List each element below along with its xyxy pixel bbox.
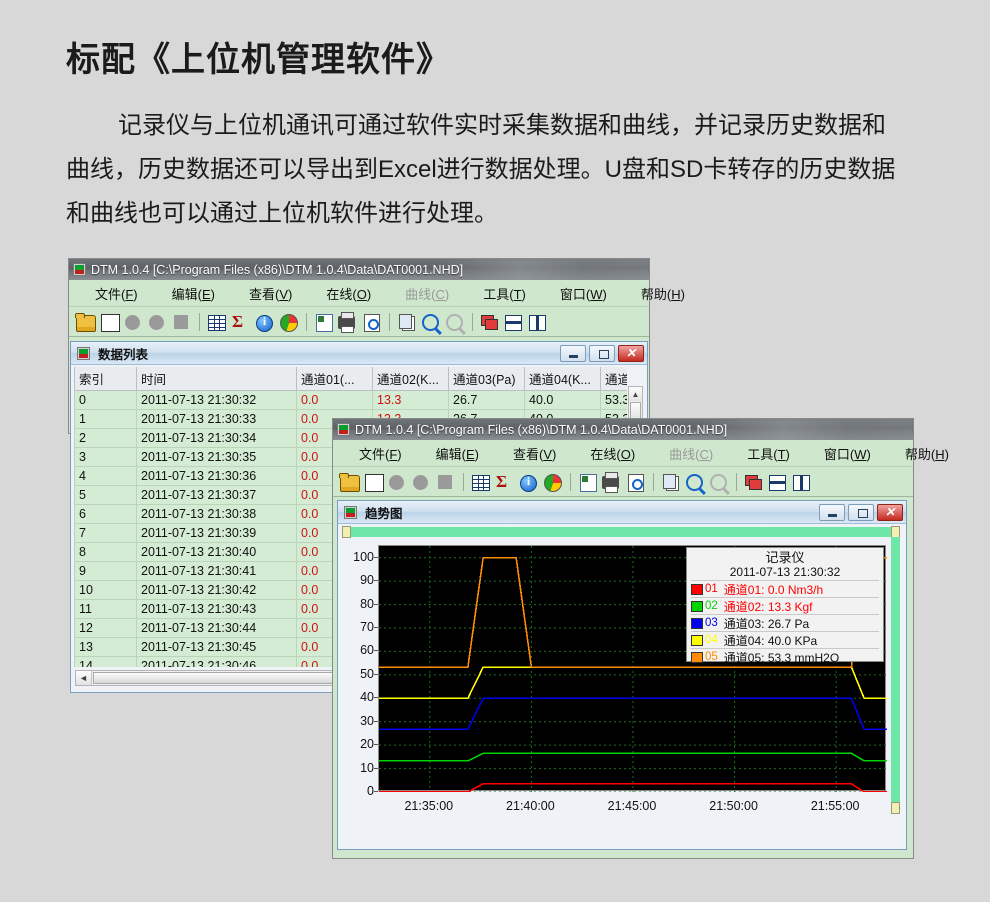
zoom-out-icon-glyph bbox=[446, 314, 463, 331]
chart-legend: 记录仪 2011-07-13 21:30:32 01通道01: 0.0 Nm3/… bbox=[686, 547, 884, 662]
export-excel-icon-glyph bbox=[580, 474, 597, 492]
y-tick-label: 100 bbox=[353, 550, 374, 564]
column-header-4[interactable]: 通道03(Pa) bbox=[449, 367, 525, 391]
column-header-6[interactable]: 通道05(... bbox=[601, 367, 628, 391]
record-start-icon[interactable] bbox=[122, 311, 144, 333]
legend-channel-number: 02 bbox=[705, 600, 718, 612]
record-pause-icon-glyph bbox=[149, 315, 164, 330]
y-tick-label: 90 bbox=[360, 573, 374, 587]
print-preview-icon-glyph bbox=[364, 314, 380, 332]
table-cell[interactable]: 1 bbox=[75, 410, 137, 429]
menu-item-3[interactable]: 在线(O) bbox=[586, 444, 639, 463]
cascade-windows-icon-glyph bbox=[745, 475, 760, 489]
data-table-icon-glyph bbox=[472, 475, 490, 491]
data-list-window-buttons[interactable]: ✕ bbox=[557, 345, 647, 362]
y-tick-label: 60 bbox=[360, 643, 374, 657]
y-tick-mark bbox=[374, 791, 378, 792]
menu-item-2[interactable]: 查看(V) bbox=[509, 444, 560, 463]
info-icon-glyph bbox=[256, 315, 273, 332]
toolbar-back[interactable]: Σ bbox=[69, 307, 649, 337]
zoom-in-icon-glyph bbox=[422, 314, 439, 331]
table-cell[interactable]: 2011-07-13 21:30:32 bbox=[137, 391, 297, 410]
legend-item: 01通道01: 0.0 Nm3/h bbox=[691, 580, 879, 597]
table-cell[interactable]: 26.7 bbox=[449, 391, 525, 410]
app-icon bbox=[337, 423, 350, 436]
print-preview-icon[interactable] bbox=[624, 471, 646, 493]
y-tick-label: 0 bbox=[367, 784, 374, 798]
open-file-icon[interactable] bbox=[74, 311, 96, 333]
menu-item-7[interactable]: 帮助(H) bbox=[901, 444, 953, 463]
record-stop-icon[interactable] bbox=[170, 311, 192, 333]
toolbar-separator bbox=[463, 473, 464, 491]
window-title-front: DTM 1.0.4 [C:\Program Files (x86)\DTM 1.… bbox=[355, 423, 727, 437]
x-tick-label: 21:45:00 bbox=[608, 799, 657, 813]
menubar-front[interactable]: 文件(F)编辑(E)查看(V)在线(O)曲线(C)工具(T)窗口(W)帮助(H) bbox=[333, 440, 913, 467]
statistics-sigma-icon-glyph: Σ bbox=[496, 472, 507, 492]
y-tick-mark bbox=[374, 744, 378, 745]
column-header-0[interactable]: 索引 bbox=[75, 367, 137, 391]
y-tick-mark bbox=[374, 557, 378, 558]
print-icon-glyph bbox=[338, 316, 355, 329]
legend-channel-value: 通道04: 40.0 KPa bbox=[724, 632, 817, 649]
export-excel-icon[interactable] bbox=[576, 471, 598, 493]
y-tick-label: 40 bbox=[360, 690, 374, 704]
scroll-left-icon[interactable]: ◄ bbox=[76, 671, 92, 685]
open-file-icon-glyph bbox=[76, 315, 96, 332]
y-tick-mark bbox=[374, 674, 378, 675]
table-cell[interactable]: 2011-07-13 21:30:42 bbox=[137, 581, 297, 600]
titlebar-blur-overlay bbox=[434, 259, 649, 280]
menu-item-1[interactable]: 编辑(E) bbox=[432, 444, 483, 463]
data-table-icon-glyph bbox=[208, 315, 226, 331]
x-tick-label: 21:35:00 bbox=[404, 799, 453, 813]
data-table-icon[interactable] bbox=[469, 471, 491, 493]
toolbar-separator bbox=[736, 473, 737, 491]
x-tick-label: 21:50:00 bbox=[709, 799, 758, 813]
cascade-windows-icon[interactable] bbox=[478, 311, 500, 333]
table-cell[interactable]: 13.3 bbox=[373, 391, 449, 410]
curve-chart-icon-glyph bbox=[101, 314, 120, 332]
table-cell[interactable]: 40.0 bbox=[525, 391, 601, 410]
print-icon[interactable] bbox=[336, 311, 358, 333]
menu-item-6[interactable]: 窗口(W) bbox=[820, 444, 875, 463]
tile-horizontal-icon[interactable] bbox=[766, 471, 788, 493]
record-pause-icon[interactable] bbox=[410, 471, 432, 493]
info-icon[interactable] bbox=[517, 471, 539, 493]
table-cell[interactable]: 0.0 bbox=[297, 391, 373, 410]
menu-item-4: 曲线(C) bbox=[665, 444, 717, 463]
statistics-sigma-icon[interactable]: Σ bbox=[229, 311, 251, 333]
legend-color-swatch bbox=[691, 601, 703, 612]
statistics-sigma-icon[interactable]: Σ bbox=[493, 471, 515, 493]
chart-right-marker-bottom bbox=[891, 802, 900, 814]
table-cell[interactable]: 2011-07-13 21:30:43 bbox=[137, 600, 297, 619]
titlebar-blur-overlay bbox=[698, 419, 913, 440]
y-tick-label: 70 bbox=[360, 620, 374, 634]
toolbar-separator bbox=[199, 313, 200, 331]
y-tick-label: 50 bbox=[360, 667, 374, 681]
pie-chart-icon[interactable] bbox=[541, 471, 563, 493]
trend-icon bbox=[344, 506, 357, 519]
legend-channel-number: 01 bbox=[705, 583, 718, 595]
table-cell[interactable]: 2011-07-13 21:30:44 bbox=[137, 619, 297, 638]
data-list-title: 数据列表 bbox=[98, 344, 148, 363]
tile-vertical-icon[interactable] bbox=[790, 471, 812, 493]
trend-window-buttons[interactable]: ✕ bbox=[816, 504, 906, 521]
trend-chart-window[interactable]: 趋势图 ✕ 0102030405060708090100 21:35:0021:… bbox=[337, 500, 907, 850]
chart-y-axis: 0102030405060708090100 bbox=[338, 545, 374, 791]
export-excel-icon-glyph bbox=[316, 314, 333, 332]
chart-x-axis: 21:35:0021:40:0021:45:0021:50:0021:55:00 bbox=[378, 795, 886, 813]
table-cell[interactable]: 2011-07-13 21:30:41 bbox=[137, 562, 297, 581]
menu-item-5[interactable]: 工具(T) bbox=[479, 284, 530, 303]
record-start-icon-glyph bbox=[389, 475, 404, 490]
scroll-up-icon[interactable]: ▲ bbox=[629, 387, 642, 401]
titlebar-back[interactable]: DTM 1.0.4 [C:\Program Files (x86)\DTM 1.… bbox=[69, 259, 649, 280]
y-tick-label: 80 bbox=[360, 597, 374, 611]
column-header-1[interactable]: 时间 bbox=[137, 367, 297, 391]
table-cell[interactable]: 2011-07-13 21:30:35 bbox=[137, 448, 297, 467]
chart-top-bar bbox=[351, 527, 891, 537]
y-tick-mark bbox=[374, 721, 378, 722]
y-tick-mark bbox=[374, 627, 378, 628]
table-cell[interactable]: 3 bbox=[75, 448, 137, 467]
table-cell[interactable]: 14 bbox=[75, 657, 137, 668]
page-title: 标配《上位机管理软件》 bbox=[66, 32, 451, 81]
legend-timestamp: 2011-07-13 21:30:32 bbox=[691, 565, 879, 580]
y-tick-label: 30 bbox=[360, 714, 374, 728]
promo-paragraph: 记录仪与上位机通讯可通过软件实时采集数据和曲线，并记录历史数据和曲线，历史数据还… bbox=[66, 104, 896, 236]
table-row[interactable]: 02011-07-13 21:30:320.013.326.740.053.3 bbox=[75, 391, 628, 410]
trend-titlebar[interactable]: 趋势图 ✕ bbox=[338, 501, 906, 524]
legend-rows: 01通道01: 0.0 Nm3/h02通道02: 13.3 Kgf03通道03:… bbox=[691, 580, 879, 665]
table-cell[interactable]: 9 bbox=[75, 562, 137, 581]
legend-color-swatch bbox=[691, 635, 703, 646]
zoom-in-icon[interactable] bbox=[419, 311, 441, 333]
cascade-windows-icon-glyph bbox=[481, 315, 496, 329]
record-stop-icon-glyph bbox=[438, 475, 452, 489]
minimize-button[interactable] bbox=[819, 504, 845, 521]
toolbar-separator bbox=[472, 313, 473, 331]
dtm-window-front[interactable]: DTM 1.0.4 [C:\Program Files (x86)\DTM 1.… bbox=[332, 418, 914, 859]
table-cell[interactable]: 2011-07-13 21:30:40 bbox=[137, 543, 297, 562]
info-icon[interactable] bbox=[253, 311, 275, 333]
record-stop-icon[interactable] bbox=[434, 471, 456, 493]
legend-color-swatch bbox=[691, 584, 703, 595]
table-cell[interactable]: 8 bbox=[75, 543, 137, 562]
table-cell[interactable]: 2011-07-13 21:30:39 bbox=[137, 524, 297, 543]
menu-item-0[interactable]: 文件(F) bbox=[355, 444, 406, 463]
legend-title: 记录仪 bbox=[691, 550, 879, 565]
titlebar-front[interactable]: DTM 1.0.4 [C:\Program Files (x86)\DTM 1.… bbox=[333, 419, 913, 440]
record-stop-icon-glyph bbox=[174, 315, 188, 329]
table-cell[interactable]: 53.3 bbox=[601, 391, 628, 410]
table-cell[interactable]: 2011-07-13 21:30:36 bbox=[137, 467, 297, 486]
export-excel-icon[interactable] bbox=[312, 311, 334, 333]
pie-chart-icon[interactable] bbox=[277, 311, 299, 333]
y-tick-label: 10 bbox=[360, 761, 374, 775]
info-icon-glyph bbox=[520, 475, 537, 492]
tile-vertical-icon-glyph bbox=[529, 315, 546, 331]
toolbar-separator bbox=[306, 313, 307, 331]
column-header-2[interactable]: 通道01(... bbox=[297, 367, 373, 391]
legend-channel-number: 03 bbox=[705, 617, 718, 629]
tile-vertical-icon[interactable] bbox=[526, 311, 548, 333]
data-list-titlebar[interactable]: 数据列表 ✕ bbox=[71, 342, 647, 365]
curve-chart-icon[interactable] bbox=[362, 471, 384, 493]
table-cell[interactable]: 2011-07-13 21:30:45 bbox=[137, 638, 297, 657]
open-file-icon-glyph bbox=[340, 475, 360, 492]
close-button[interactable]: ✕ bbox=[877, 504, 903, 521]
table-cell[interactable]: 2011-07-13 21:30:46 bbox=[137, 657, 297, 668]
legend-channel-value: 通道05: 53.3 mmH2O bbox=[724, 649, 839, 666]
y-tick-mark bbox=[374, 697, 378, 698]
table-cell[interactable]: 12 bbox=[75, 619, 137, 638]
menubar-back[interactable]: 文件(F)编辑(E)查看(V)在线(O)曲线(C)工具(T)窗口(W)帮助(H) bbox=[69, 280, 649, 307]
maximize-button[interactable] bbox=[589, 345, 615, 362]
legend-channel-number: 04 bbox=[705, 634, 718, 646]
legend-channel-value: 通道02: 13.3 Kgf bbox=[724, 598, 813, 615]
tile-vertical-icon-glyph bbox=[793, 475, 810, 491]
chart-right-scroll-track[interactable] bbox=[891, 537, 900, 802]
tile-horizontal-icon[interactable] bbox=[502, 311, 524, 333]
tile-horizontal-icon-glyph bbox=[505, 315, 522, 331]
print-preview-icon[interactable] bbox=[360, 311, 382, 333]
table-cell[interactable]: 6 bbox=[75, 505, 137, 524]
table-cell[interactable]: 2011-07-13 21:30:37 bbox=[137, 486, 297, 505]
window-title-back: DTM 1.0.4 [C:\Program Files (x86)\DTM 1.… bbox=[91, 263, 463, 277]
toolbar-separator bbox=[389, 313, 390, 331]
zoom-out-icon-glyph bbox=[710, 474, 727, 491]
menu-item-7[interactable]: 帮助(H) bbox=[637, 284, 689, 303]
column-header-3[interactable]: 通道02(K... bbox=[373, 367, 449, 391]
table-header-row[interactable]: 索引时间通道01(...通道02(K...通道03(Pa)通道04(K...通道… bbox=[75, 367, 628, 391]
menu-item-5[interactable]: 工具(T) bbox=[743, 444, 794, 463]
pie-chart-icon-glyph bbox=[280, 314, 298, 332]
app-icon bbox=[73, 263, 86, 276]
table-cell[interactable]: 11 bbox=[75, 600, 137, 619]
cascade-windows-icon[interactable] bbox=[742, 471, 764, 493]
legend-color-swatch bbox=[691, 652, 703, 663]
table-cell[interactable]: 10 bbox=[75, 581, 137, 600]
menu-item-6[interactable]: 窗口(W) bbox=[556, 284, 611, 303]
close-button[interactable]: ✕ bbox=[618, 345, 644, 362]
y-tick-mark bbox=[374, 768, 378, 769]
legend-color-swatch bbox=[691, 618, 703, 629]
chart-left-marker bbox=[342, 526, 351, 538]
menu-item-0[interactable]: 文件(F) bbox=[91, 284, 142, 303]
legend-channel-value: 通道03: 26.7 Pa bbox=[724, 615, 809, 632]
legend-item: 02通道02: 13.3 Kgf bbox=[691, 597, 879, 614]
table-cell[interactable]: 0 bbox=[75, 391, 137, 410]
record-pause-icon[interactable] bbox=[146, 311, 168, 333]
data-table-icon[interactable] bbox=[205, 311, 227, 333]
zoom-in-icon-glyph bbox=[686, 474, 703, 491]
table-cell[interactable]: 2 bbox=[75, 429, 137, 448]
zoom-out-icon[interactable] bbox=[443, 311, 465, 333]
x-tick-label: 21:55:00 bbox=[811, 799, 860, 813]
table-cell[interactable]: 2011-07-13 21:30:33 bbox=[137, 410, 297, 429]
legend-item: 04通道04: 40.0 KPa bbox=[691, 631, 879, 648]
legend-item: 05通道05: 53.3 mmH2O bbox=[691, 648, 879, 665]
minimize-button[interactable] bbox=[560, 345, 586, 362]
record-pause-icon-glyph bbox=[413, 475, 428, 490]
record-start-icon-glyph bbox=[125, 315, 140, 330]
legend-channel-number: 05 bbox=[705, 651, 718, 663]
curve-chart-icon-glyph bbox=[365, 474, 384, 492]
copy-icon-glyph bbox=[666, 476, 679, 491]
print-icon[interactable] bbox=[600, 471, 622, 493]
legend-channel-value: 通道01: 0.0 Nm3/h bbox=[724, 581, 823, 598]
column-header-5[interactable]: 通道04(K... bbox=[525, 367, 601, 391]
table-cell[interactable]: 4 bbox=[75, 467, 137, 486]
paragraph-text: 记录仪与上位机通讯可通过软件实时采集数据和曲线，并记录历史数据和曲线，历史数据还… bbox=[66, 112, 895, 227]
x-tick-label: 21:40:00 bbox=[506, 799, 555, 813]
data-list-icon bbox=[77, 347, 90, 360]
table-cell[interactable]: 2011-07-13 21:30:34 bbox=[137, 429, 297, 448]
statistics-sigma-icon-glyph: Σ bbox=[232, 312, 243, 332]
legend-item: 03通道03: 26.7 Pa bbox=[691, 614, 879, 631]
toolbar-front[interactable]: Σ bbox=[333, 467, 913, 497]
menu-item-3[interactable]: 在线(O) bbox=[322, 284, 375, 303]
zoom-out-icon[interactable] bbox=[707, 471, 729, 493]
y-tick-mark bbox=[374, 604, 378, 605]
menu-item-4: 曲线(C) bbox=[401, 284, 453, 303]
y-tick-mark bbox=[374, 650, 378, 651]
toolbar-separator bbox=[653, 473, 654, 491]
copy-icon[interactable] bbox=[659, 471, 681, 493]
table-cell[interactable]: 7 bbox=[75, 524, 137, 543]
pie-chart-icon-glyph bbox=[544, 474, 562, 492]
curve-chart-icon[interactable] bbox=[98, 311, 120, 333]
menu-item-2[interactable]: 查看(V) bbox=[245, 284, 296, 303]
table-cell[interactable]: 13 bbox=[75, 638, 137, 657]
zoom-in-icon[interactable] bbox=[683, 471, 705, 493]
copy-icon-glyph bbox=[402, 316, 415, 331]
menu-item-1[interactable]: 编辑(E) bbox=[168, 284, 219, 303]
table-cell[interactable]: 5 bbox=[75, 486, 137, 505]
y-tick-label: 20 bbox=[360, 737, 374, 751]
y-tick-mark bbox=[374, 580, 378, 581]
open-file-icon[interactable] bbox=[338, 471, 360, 493]
record-start-icon[interactable] bbox=[386, 471, 408, 493]
trend-title: 趋势图 bbox=[365, 503, 403, 522]
table-cell[interactable]: 2011-07-13 21:30:38 bbox=[137, 505, 297, 524]
maximize-button[interactable] bbox=[848, 504, 874, 521]
tile-horizontal-icon-glyph bbox=[769, 475, 786, 491]
print-icon-glyph bbox=[602, 476, 619, 489]
print-preview-icon-glyph bbox=[628, 474, 644, 492]
toolbar-separator bbox=[570, 473, 571, 491]
copy-icon[interactable] bbox=[395, 311, 417, 333]
